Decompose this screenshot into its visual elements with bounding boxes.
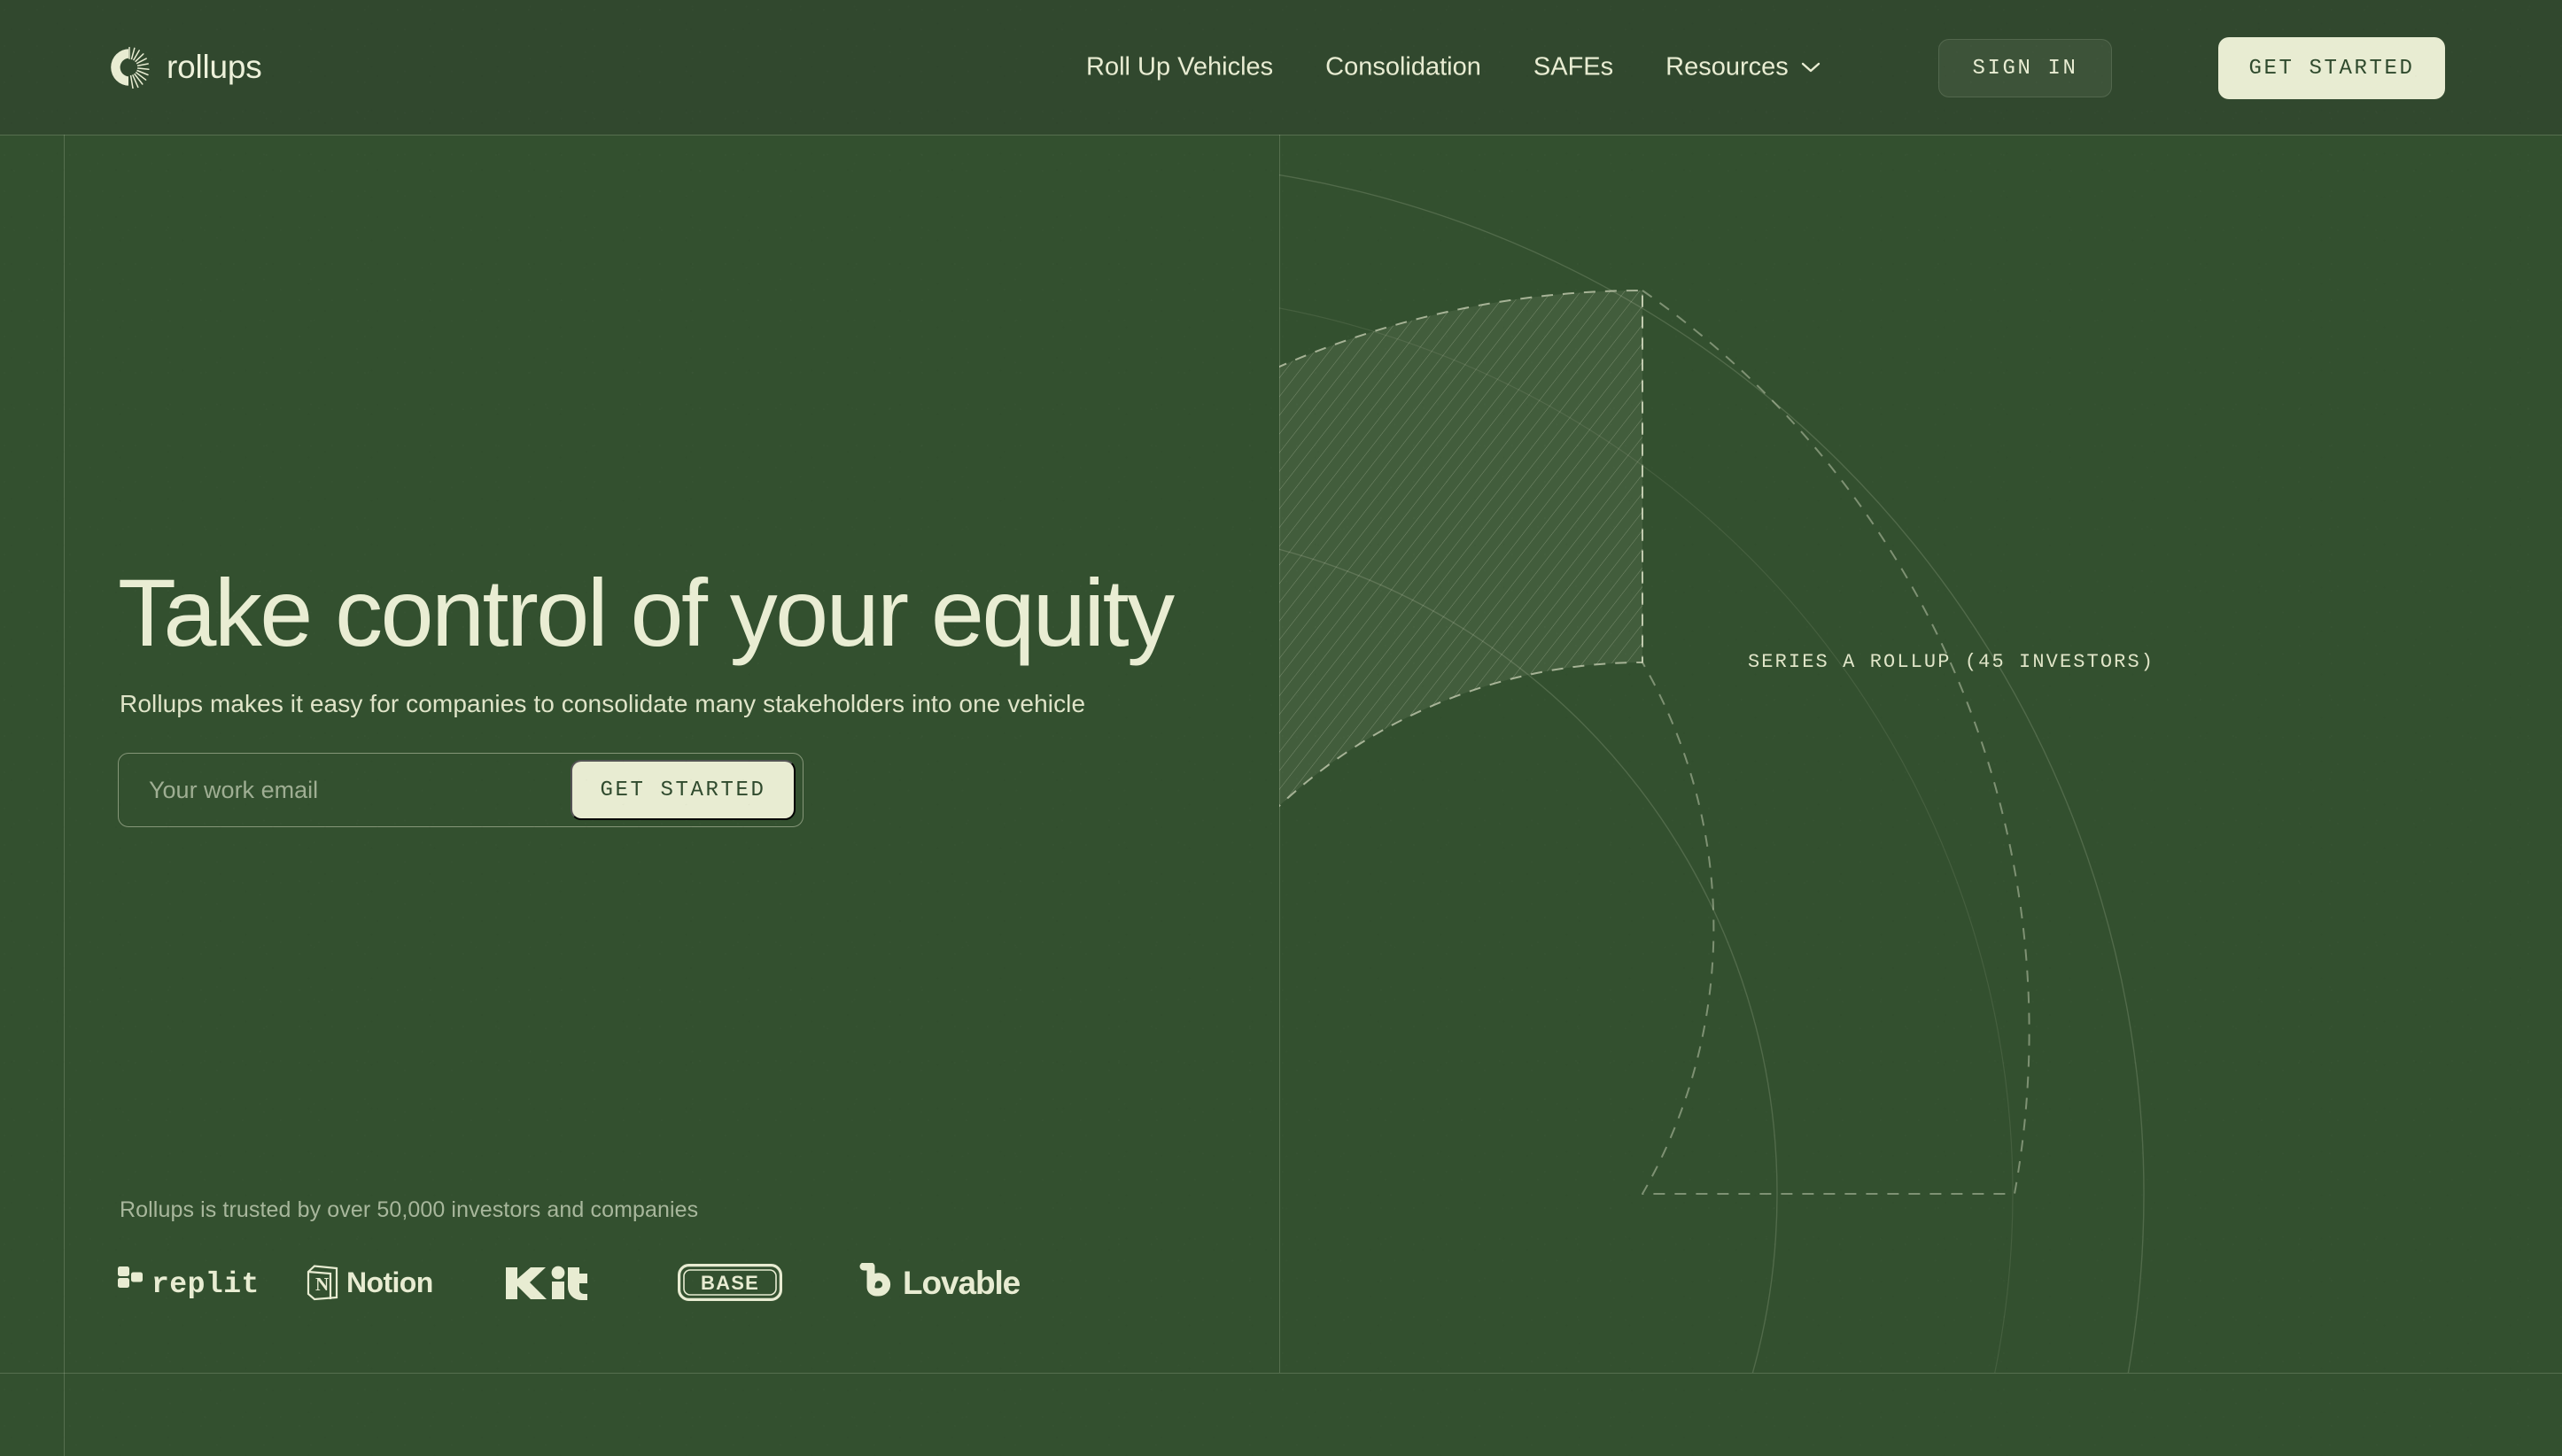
hero-subhead: Rollups makes it easy for companies to c… — [120, 690, 1085, 718]
primary-nav: Roll Up Vehicles Consolidation SAFEs Res… — [1086, 53, 1821, 82]
nav-item-consolidation[interactable]: Consolidation — [1325, 53, 1481, 82]
logo-base: BASE — [678, 1256, 858, 1309]
nav-label: Roll Up Vehicles — [1086, 53, 1273, 82]
svg-text:replit: replit — [151, 1268, 260, 1299]
logo-replit: replit — [118, 1256, 306, 1309]
grid-rule-hero-bottom — [0, 1373, 2562, 1374]
grid-rule-hero-split — [1279, 135, 1280, 1373]
nav-item-roll-up-vehicles[interactable]: Roll Up Vehicles — [1086, 53, 1273, 82]
svg-text:Notion: Notion — [346, 1266, 433, 1298]
sector-outline — [1642, 290, 2030, 1194]
logo-notion: N Notion — [306, 1256, 504, 1309]
get-started-button-header[interactable]: GET STARTED — [2218, 37, 2445, 99]
svg-text:N: N — [315, 1274, 329, 1295]
nav-label: Consolidation — [1325, 53, 1481, 82]
page-title: Take control of your equity — [118, 564, 1172, 662]
svg-text:BASE: BASE — [701, 1272, 759, 1294]
site-header: rollups Roll Up Vehicles Consolidation S… — [0, 0, 2562, 135]
email-field[interactable] — [119, 754, 571, 826]
grid-rule-left — [64, 0, 65, 1456]
nav-item-resources[interactable]: Resources — [1665, 53, 1821, 82]
partner-logo-row: replit N Notion — [118, 1256, 1071, 1309]
hero-content: Take control of your equity Rollups make… — [118, 135, 1279, 1373]
rollup-sector-graphic: SERIES A ROLLUP (45 INVESTORS) — [1279, 135, 2562, 1373]
nav-label: Resources — [1665, 53, 1789, 82]
chevron-down-icon — [1801, 62, 1821, 74]
nav-label: SAFEs — [1533, 53, 1613, 82]
trust-statement: Rollups is trusted by over 50,000 invest… — [120, 1197, 698, 1223]
sector-label: SERIES A ROLLUP (45 INVESTORS) — [1748, 651, 2154, 673]
nav-item-safes[interactable]: SAFEs — [1533, 53, 1613, 82]
logo-lovable: Lovable — [858, 1256, 1071, 1309]
svg-text:Lovable: Lovable — [903, 1265, 1021, 1301]
grid-rule-header-bottom — [0, 135, 2562, 136]
brand-name: rollups — [167, 49, 262, 86]
hero-section: Take control of your equity Rollups make… — [0, 135, 2562, 1373]
sector-filled — [1279, 223, 2562, 1286]
brand-logo-link[interactable]: rollups — [108, 46, 262, 89]
email-signup-form: GET STARTED — [118, 753, 804, 827]
rollups-sunburst-icon — [108, 46, 151, 89]
logo-kit — [504, 1256, 678, 1309]
get-started-button-hero[interactable]: GET STARTED — [571, 760, 796, 820]
sign-in-button[interactable]: SIGN IN — [1938, 39, 2112, 97]
